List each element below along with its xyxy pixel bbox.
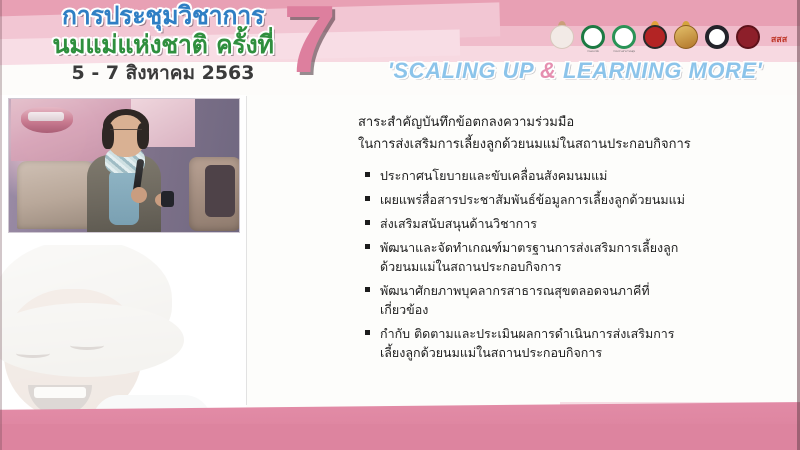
list-item: ประกาศนโยบายและขับเคลื่อนสังคมนมแม่ — [364, 166, 784, 185]
logo-royal-emblem — [549, 22, 575, 52]
logo-crest-gold — [673, 22, 699, 52]
bullet-square-icon — [365, 287, 370, 292]
logo-black-circle — [704, 22, 730, 52]
logo-green-circle-2-disc — [612, 25, 636, 49]
list-item-line-1: กำกับ ติดตามและประเมินผลการดำเนินการส่งเ… — [380, 324, 784, 343]
list-item-line-2: เลี้ยงลูกด้วยนมแม่ในสถานประกอบกิจการ — [380, 343, 784, 362]
list-item: ส่งเสริมสนับสนุนด้านวิชาการ — [364, 214, 784, 233]
content-heading-line-2: ในการส่งเสริมการเลี้ยงลูกด้วยนมแม่ในสถาน… — [358, 134, 788, 156]
logo-green-circle-1-label: กรมอนามัย — [580, 50, 606, 53]
list-item-line-1: ประกาศนโยบายและขับเคลื่อนสังคมนมแม่ — [380, 166, 784, 185]
content-bullet-list: ประกาศนโยบายและขับเคลื่อนสังคมนมแม่ เผยแ… — [364, 166, 784, 367]
child-eye-right — [70, 341, 104, 350]
list-item: กำกับ ติดตามและประเมินผลการดำเนินการส่งเ… — [364, 324, 784, 362]
logo-green-circle-1-disc — [581, 25, 605, 49]
bullet-square-icon — [365, 244, 370, 249]
slide-edge-left — [0, 0, 2, 450]
logo-green-circle-2: กระทรวงสาธารณสุข — [611, 22, 637, 52]
logo-black-circle-disc — [705, 25, 729, 49]
logo-crest-gold-disc — [674, 25, 698, 49]
logo-red-ring-disc — [643, 25, 667, 49]
speaker-eyeglasses — [110, 129, 142, 137]
list-item: พัฒนาและจัดทำเกณฑ์มาตรฐานการส่งเสริมการเ… — [364, 238, 784, 276]
tagline-ampersand: & — [540, 58, 556, 83]
bullet-square-icon — [365, 330, 370, 335]
conference-tagline: 'SCALING UP & LEARNING MORE' — [360, 58, 790, 84]
bullet-square-icon — [365, 172, 370, 177]
list-item-line-1: พัฒนาและจัดทำเกณฑ์มาตรฐานการส่งเสริมการเ… — [380, 238, 784, 257]
slide-header-banner: การประชุมวิชาการ นมแม่แห่งชาติ ครั้งที่ … — [0, 0, 800, 95]
logo-red-ring — [642, 22, 668, 52]
bottom-band-solid-fill — [0, 424, 800, 450]
logo-maroon-circle-disc — [736, 25, 760, 49]
slide-content-area: สาระสำคัญบันทึกข้อตกลงความร่วมมือ ในการส… — [252, 96, 800, 405]
logo-royal-emblem-disc — [550, 25, 574, 49]
bullet-square-icon — [365, 220, 370, 225]
tagline-text-close: LEARNING MORE' — [556, 58, 762, 83]
presenter-remote — [161, 191, 174, 207]
backdrop-teeth-graphic — [28, 112, 64, 121]
logo-green-circle-1: กรมอนามัย — [580, 22, 606, 52]
content-heading-line-1: สาระสำคัญบันทึกข้อตกลงความร่วมมือ — [358, 112, 788, 134]
conference-edition-number: 7 — [283, 0, 336, 88]
bullet-square-icon — [365, 196, 370, 201]
conference-date: 5 - 7 สิงหาคม 2563 — [18, 61, 308, 85]
conference-title-line-2: นมแม่แห่งชาติ ครั้งที่ — [18, 30, 308, 59]
child-teeth — [34, 387, 86, 398]
list-item-line-2: เกี่ยวข้อง — [380, 300, 784, 319]
conference-title-line-1: การประชุมวิชาการ — [18, 2, 308, 30]
list-item-line-1: เผยแพร่สื่อสารประชาสัมพันธ์ข้อมูลการเลี้… — [380, 190, 784, 209]
list-item: พัฒนาศักยภาพบุคลากรสาธารณสุขตลอดจนภาคีที… — [364, 281, 784, 319]
conference-title-block: การประชุมวิชาการ นมแม่แห่งชาติ ครั้งที่ … — [18, 2, 308, 85]
logo-sss-thaihealth: สสส — [766, 22, 792, 52]
column-divider — [246, 96, 247, 405]
content-heading: สาระสำคัญบันทึกข้อตกลงความร่วมมือ ในการส… — [358, 112, 788, 156]
child-eye-left — [16, 349, 50, 358]
list-item: เผยแพร่สื่อสารประชาสัมพันธ์ข้อมูลการเลี้… — [364, 190, 784, 209]
list-item-line-2: ด้วยนมแม่ในสถานประกอบกิจการ — [380, 257, 784, 276]
tagline-text-open: 'SCALING UP — [388, 58, 540, 83]
logo-sss-thaihealth-label: สสส — [766, 35, 792, 46]
presentation-slide: การประชุมวิชาการ นมแม่แห่งชาติ ครั้งที่ … — [0, 0, 800, 450]
left-media-column — [0, 95, 246, 450]
speaker-photo — [8, 98, 240, 233]
speaker-hand-holding-mic — [131, 187, 147, 203]
slide-bottom-pink-band — [0, 402, 800, 450]
partner-logos-row: กรมอนามัย กระทรวงสาธารณสุข — [549, 22, 792, 52]
list-item-line-1: พัฒนาศักยภาพบุคลากรสาธารณสุขตลอดจนภาคีที… — [380, 281, 784, 300]
speaker-chair-right-inner — [205, 165, 235, 217]
speaker-chair-left — [17, 161, 95, 229]
logo-maroon-circle — [735, 22, 761, 52]
logo-green-circle-2-label: กระทรวงสาธารณสุข — [611, 50, 637, 53]
list-item-line-1: ส่งเสริมสนับสนุนด้านวิชาการ — [380, 214, 784, 233]
